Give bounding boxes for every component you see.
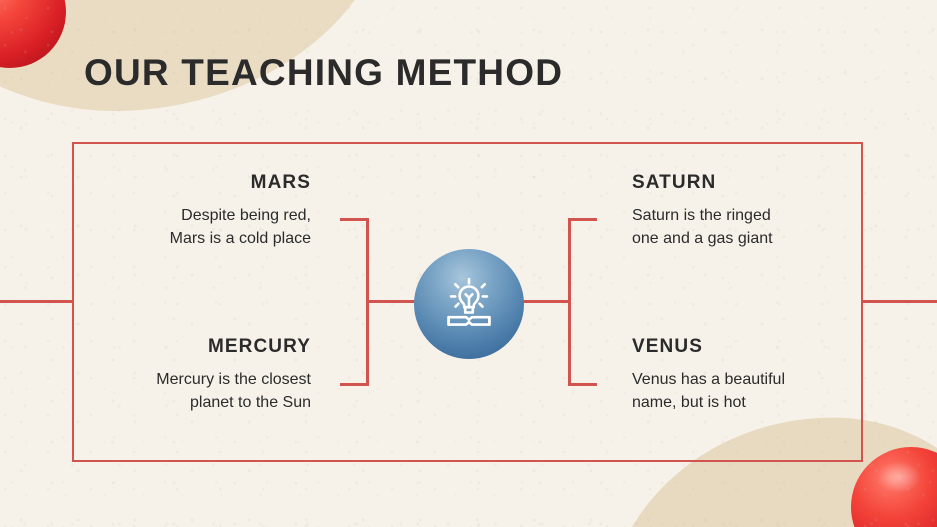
center-blue-sphere — [414, 249, 524, 359]
slide-canvas: OUR TEACHING METHOD MARS Despi — [0, 0, 937, 527]
bracket-right-bottom-stub — [568, 383, 597, 386]
item-saturn: SATURN Saturn is the ringed one and a ga… — [632, 172, 932, 250]
item-mercury: MERCURY Mercury is the closest planet to… — [11, 336, 311, 414]
accent-line-left — [0, 300, 74, 303]
page-title: OUR TEACHING METHOD — [84, 52, 563, 94]
bracket-left-bottom-stub — [340, 383, 369, 386]
item-mars-heading: MARS — [11, 172, 311, 194]
item-mars-body: Despite being red, Mars is a cold place — [11, 205, 311, 250]
item-mercury-heading: MERCURY — [11, 336, 311, 358]
item-venus-heading: VENUS — [632, 336, 932, 358]
item-mars: MARS Despite being red, Mars is a cold p… — [11, 172, 311, 250]
bracket-left-top-stub — [340, 218, 369, 221]
item-saturn-heading: SATURN — [632, 172, 932, 194]
item-mercury-body: Mercury is the closest planet to the Sun — [11, 369, 311, 414]
item-saturn-body: Saturn is the ringed one and a gas giant — [632, 205, 932, 250]
item-venus-body: Venus has a beautiful name, but is hot — [632, 369, 932, 414]
connector-bracket-left — [340, 218, 420, 386]
connector-bracket-right — [517, 218, 597, 386]
accent-line-right — [861, 300, 937, 303]
bracket-right-top-stub — [568, 218, 597, 221]
lightbulb-book-icon — [438, 273, 500, 335]
bracket-right-middle-stub — [517, 300, 571, 303]
item-venus: VENUS Venus has a beautiful name, but is… — [632, 336, 932, 414]
